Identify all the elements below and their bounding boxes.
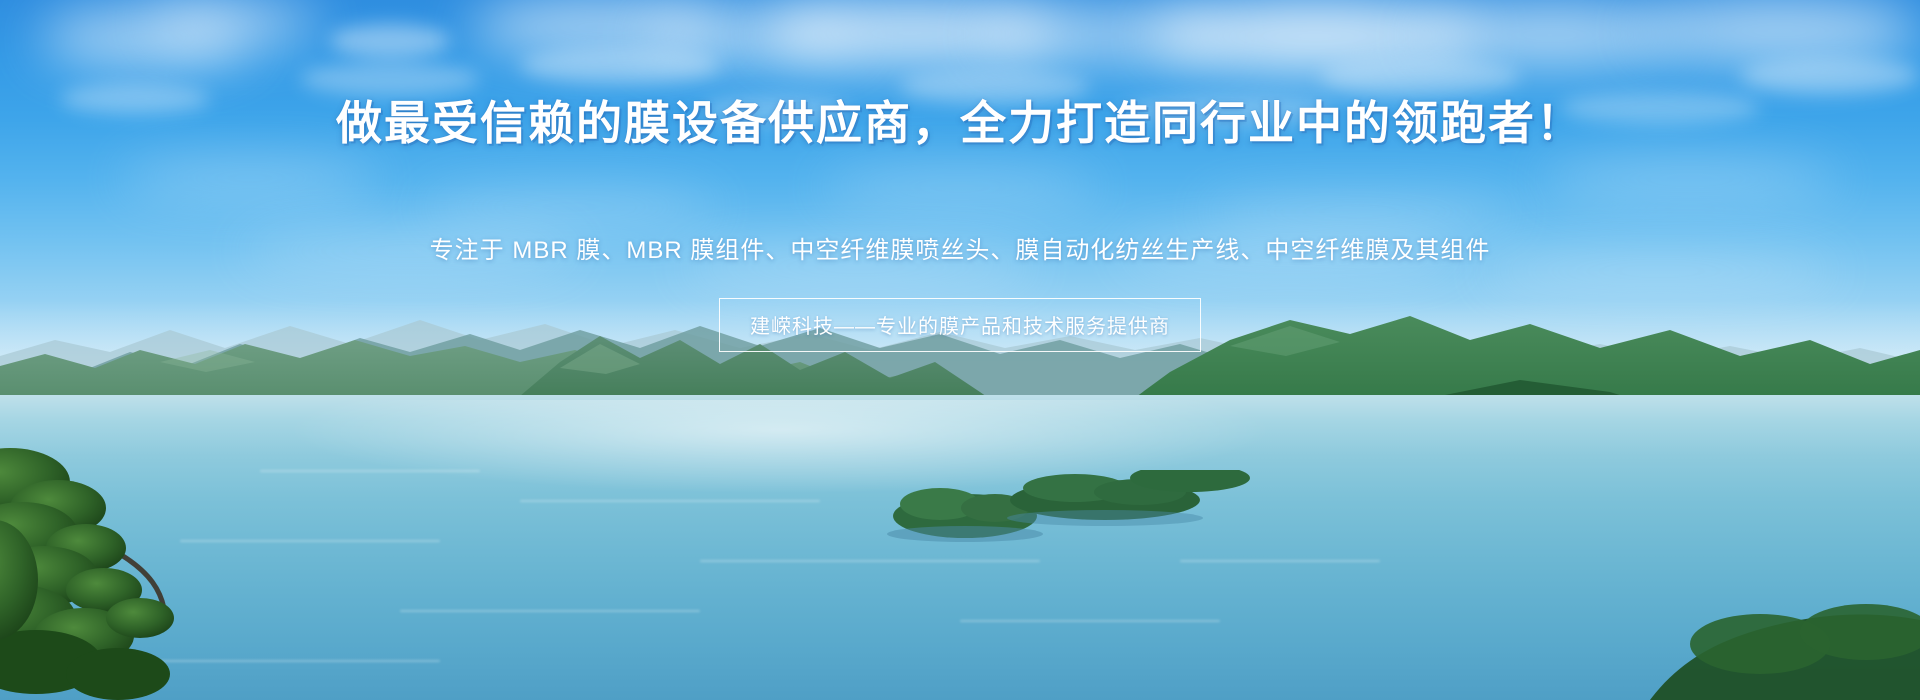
tagline-container: 建嵘科技——专业的膜产品和技术服务提供商 (0, 298, 1920, 352)
text-overlay: 做最受信赖的膜设备供应商，全力打造同行业中的领跑者！ 专注于 MBR 膜、MBR… (0, 0, 1920, 700)
banner-subheadline: 专注于 MBR 膜、MBR 膜组件、中空纤维膜喷丝头、膜自动化纺丝生产线、中空纤… (0, 230, 1920, 265)
banner-tagline-box[interactable]: 建嵘科技——专业的膜产品和技术服务提供商 (719, 298, 1201, 352)
banner-headline: 做最受信赖的膜设备供应商，全力打造同行业中的领跑者！ (0, 98, 1920, 150)
hero-banner: 做最受信赖的膜设备供应商，全力打造同行业中的领跑者！ 专注于 MBR 膜、MBR… (0, 0, 1920, 700)
